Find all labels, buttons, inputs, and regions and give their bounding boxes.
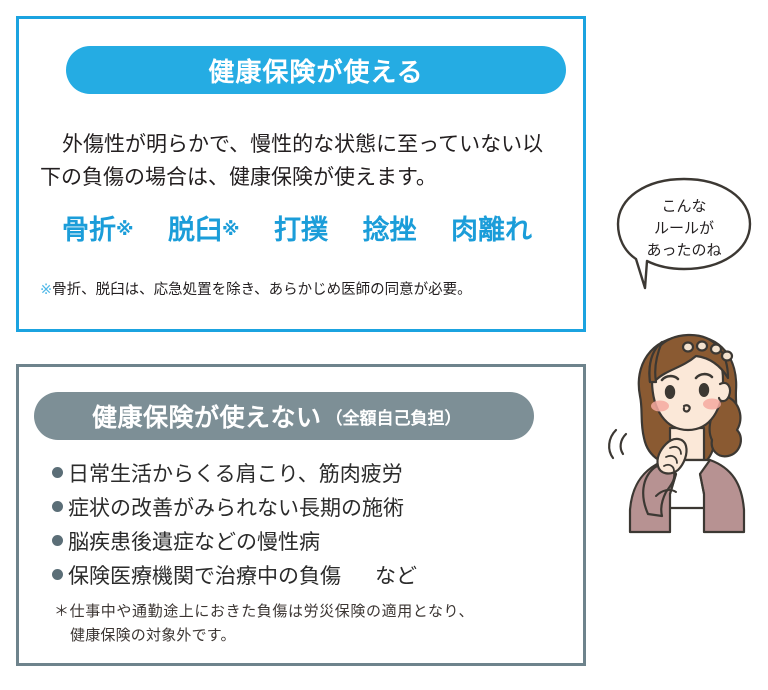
not-covered-panel-header: 健康保険が使えない （全額自己負担） (34, 392, 534, 440)
covered-header-label: 健康保険が使える (208, 52, 423, 89)
not-covered-header-label: 健康保険が使えない (92, 398, 322, 434)
keyword-sprain: 捻挫 (363, 208, 417, 247)
not-covered-bullet-list: 日常生活からくる肩こり、筋肉疲労 症状の改善がみられない長期の施術 脳疾患後遺症… (52, 458, 552, 594)
keyword-fracture: 骨折※ (62, 208, 134, 247)
bullet-dot-icon (52, 535, 63, 546)
speech-bubble: こんな ルールが あったのね (614, 176, 754, 292)
keyword-dislocation-mark: ※ (222, 219, 240, 239)
list-item: 日常生活からくる肩こり、筋肉疲労 (52, 458, 552, 492)
not-covered-header-sublabel: （全額自己負担） (326, 404, 462, 429)
covered-footnote-mark: ※ (40, 282, 52, 298)
thinking-woman-illustration (604, 318, 768, 534)
keyword-dislocation-label: 脱臼 (168, 215, 222, 245)
list-item-label: 脳疾患後遺症などの慢性病 (68, 526, 320, 560)
list-item-label: 保険医療機関で治療中の負傷 (68, 560, 341, 594)
keyword-bruise-label: 打撲 (274, 215, 328, 245)
bullet-dot-icon (52, 569, 63, 580)
covered-panel-header: 健康保険が使える (66, 46, 566, 94)
not-covered-footnote-line1: ＊仕事中や通勤途上におきた負傷は労災保険の適用となり、 (54, 603, 474, 620)
list-item-label: 症状の改善がみられない長期の施術 (68, 492, 404, 526)
keyword-muscle-tear-label: 肉離れ (451, 215, 532, 245)
keyword-fracture-label: 骨折 (62, 215, 116, 245)
not-covered-panel-footnote: ＊仕事中や通勤途上におきた負傷は労災保険の適用となり、 健康保険の対象外です。 (54, 600, 554, 648)
keyword-dislocation: 脱臼※ (168, 208, 240, 247)
list-item: 症状の改善がみられない長期の施術 (52, 492, 552, 526)
covered-keyword-row: 骨折※ 脱臼※ 打撲 捻挫 肉離れ (40, 208, 554, 247)
list-item-etc-label: など (375, 560, 417, 594)
keyword-bruise: 打撲 (274, 208, 328, 247)
list-item-label: 日常生活からくる肩こり、筋肉疲労 (68, 458, 403, 492)
covered-panel-footnote: ※骨折、脱臼は、応急処置を除き、あらかじめ医師の同意が必要。 (40, 278, 560, 299)
covered-panel-body-text: 外傷性が明らかで、慢性的な状態に至っていない以下の負傷の場合は、健康保険が使えま… (40, 129, 550, 194)
bullet-dot-icon (52, 501, 63, 512)
bullet-dot-icon (52, 467, 63, 478)
keyword-muscle-tear: 肉離れ (451, 208, 532, 247)
list-item: 保険医療機関で治療中の負傷 など (52, 560, 552, 594)
not-covered-footnote-line2: 健康保険の対象外です。 (54, 624, 554, 648)
covered-footnote-text: 骨折、脱臼は、応急処置を除き、あらかじめ医師の同意が必要。 (52, 282, 471, 298)
speech-bubble-text: こんな ルールが あったのね (614, 196, 754, 261)
list-item: 脳疾患後遺症などの慢性病 (52, 526, 552, 560)
keyword-fracture-mark: ※ (116, 219, 134, 239)
keyword-sprain-label: 捻挫 (363, 215, 417, 245)
thinking-woman-graphic (604, 318, 768, 534)
